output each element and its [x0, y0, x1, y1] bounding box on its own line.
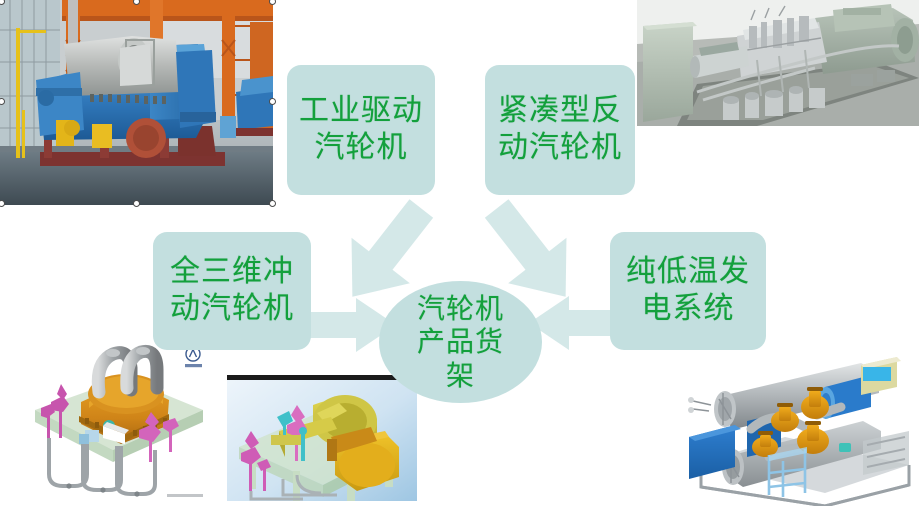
render-orc-low-temp-skid-image — [665, 345, 919, 506]
selection-handle[interactable] — [133, 200, 140, 207]
render-orange-turbine-assembly[interactable]: 橙色汽轮机本体三维装配图 — [17, 338, 224, 506]
photo-blue-steam-turbine-factory[interactable]: 蓝色汽轮机厂房照片 — [0, 0, 273, 205]
render-turbine-plant-layout[interactable]: 汽轮机机组总装三维渲染图 — [637, 0, 919, 126]
render-yellow-turbine-module[interactable]: 黄色汽轮机模块三维图 — [227, 375, 417, 506]
photo-blue-steam-turbine-factory-image — [0, 0, 273, 205]
node-industrial-drive-turbine[interactable]: 工业驱动 汽轮机 — [287, 65, 435, 195]
node-full-3d-impulse-turbine[interactable]: 全三维冲 动汽轮机 — [153, 232, 311, 350]
render-orange-turbine-assembly-image — [17, 338, 224, 506]
slide-canvas: 蓝色汽轮机厂房照片 — [0, 0, 919, 506]
node-industrial-drive-turbine-label: 工业驱动 汽轮机 — [299, 93, 423, 166]
render-orc-low-temp-skid[interactable]: 纯低温发电机组三维图 — [665, 345, 919, 506]
selection-handle[interactable] — [269, 0, 276, 5]
node-compact-reaction-turbine[interactable]: 紧凑型反 动汽轮机 — [485, 65, 635, 195]
node-pure-low-temp-power-system-label: 纯低温发 电系统 — [626, 254, 750, 327]
node-compact-reaction-turbine-label: 紧凑型反 动汽轮机 — [498, 93, 622, 166]
selection-handle[interactable] — [0, 200, 5, 207]
selection-handle[interactable] — [269, 98, 276, 105]
node-pure-low-temp-power-system[interactable]: 纯低温发 电系统 — [610, 232, 766, 350]
node-full-3d-impulse-turbine-label: 全三维冲 动汽轮机 — [170, 254, 294, 327]
render-turbine-plant-layout-image — [637, 0, 919, 126]
hub-node-turbine-product-shelf[interactable]: 汽轮机 产品货 架 — [379, 281, 542, 403]
render-yellow-turbine-module-image — [227, 375, 417, 506]
selection-handle[interactable] — [269, 200, 276, 207]
hub-node-label: 汽轮机 产品货 架 — [417, 292, 504, 393]
